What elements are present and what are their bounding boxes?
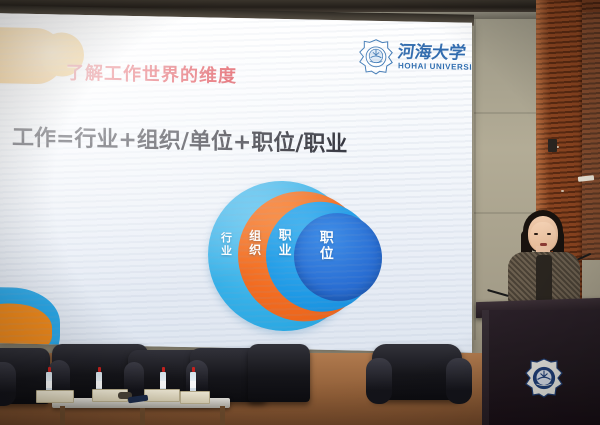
table-leg (140, 408, 145, 425)
sofa-arm (366, 358, 392, 404)
bottle-label (190, 381, 196, 388)
bottle-label (160, 381, 166, 388)
wooden-slat-column-secondary (582, 0, 600, 260)
sofa-right-inner (248, 344, 310, 402)
speaker-eye-right (547, 233, 551, 235)
wall-switch-box (548, 139, 557, 152)
hohai-university-emblem-icon (358, 38, 394, 75)
diagram-label-industry: 行业 (220, 232, 232, 258)
table-leg (60, 406, 65, 425)
projection-screen: 河海大学 HOHAI UNIVERSITY 了解工作世界的维度 工作=行业+组织… (0, 13, 472, 353)
nested-circles-diagram: 行业 组织 职业 职位 (208, 179, 408, 333)
diagram-ring-position (294, 212, 382, 302)
slide-surface: 河海大学 HOHAI UNIVERSITY 了解工作世界的维度 工作=行业+组织… (0, 13, 472, 353)
name-placard (144, 389, 180, 402)
sofa-arm (0, 362, 16, 406)
podium-hohai-emblem-icon (524, 358, 564, 398)
speaker-jacket-lapel (536, 255, 552, 303)
diagram-label-position: 职位 (318, 230, 333, 262)
bottle-label (46, 381, 52, 388)
wall-seam (474, 212, 536, 214)
diagram-label-occupation: 职业 (276, 228, 290, 258)
name-placard (180, 391, 210, 404)
slide-formula: 工作=行业+组织/单位+职位/职业 (12, 120, 347, 159)
slide-decor-orange (0, 26, 64, 84)
name-placard (36, 390, 74, 403)
hohai-logo-chinese: 河海大学 (396, 37, 468, 63)
diagram-label-organization: 组织 (248, 229, 261, 257)
table-leg (220, 406, 225, 425)
speaker-eye-left (534, 233, 538, 235)
hohai-logo: 河海大学 HOHAI UNIVERSITY (358, 36, 462, 86)
wall-seam (474, 112, 536, 114)
wall-marker (561, 190, 564, 192)
screenshot-root: 河海大学 HOHAI UNIVERSITY 了解工作世界的维度 工作=行业+组织… (0, 0, 600, 425)
bottle-label (96, 381, 102, 388)
hohai-logo-english: HOHAI UNIVERSITY (398, 61, 472, 72)
wall-seam (474, 0, 476, 340)
sofa-arm (446, 358, 472, 404)
slide-title: 了解工作世界的维度 (66, 59, 237, 88)
podium-edge (482, 310, 489, 425)
